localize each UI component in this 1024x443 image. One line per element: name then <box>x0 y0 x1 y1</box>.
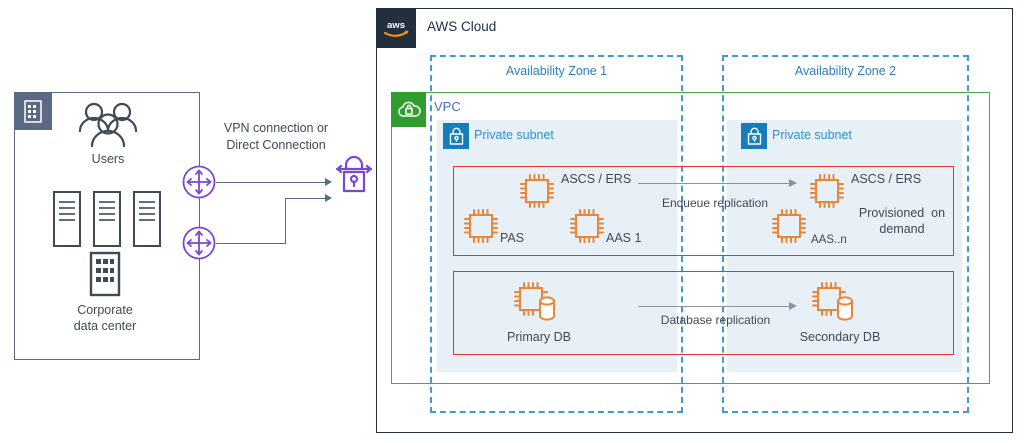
router-icon <box>182 226 216 265</box>
connector-line-router2-top <box>285 198 326 199</box>
private-subnet-lock-icon <box>741 123 767 149</box>
database-replication-arrow-head <box>789 302 797 310</box>
availability-zone-2-label: Availability Zone 2 <box>722 64 969 78</box>
router-icon <box>182 165 216 204</box>
availability-zone-1-label: Availability Zone 1 <box>430 64 683 78</box>
svg-text:aws: aws <box>387 20 405 31</box>
aws-logo-icon: aws <box>376 8 416 48</box>
ec2-database-icon <box>510 278 564 333</box>
ec2-instance-icon <box>516 170 558 217</box>
connector-line-router2-horizontal <box>216 243 286 244</box>
server-rack-icon <box>52 190 82 253</box>
connector-line-router2-vertical <box>285 198 286 244</box>
ascs-ers-az1-label: ASCS / ERS <box>561 172 651 188</box>
enqueue-replication-arrow-line <box>638 183 790 184</box>
vpn-gateway-padlock-icon <box>333 153 375 202</box>
server-rack-icon <box>92 190 122 253</box>
connector-arrow-router2 <box>325 194 332 202</box>
connector-line-router1 <box>216 182 326 183</box>
aws-cloud-label: AWS Cloud <box>427 19 496 34</box>
ec2-instance-icon <box>806 170 848 217</box>
ascs-ers-az2-label: ASCS / ERS <box>851 172 941 188</box>
vpc-label: VPC <box>434 99 461 114</box>
office-building-icon <box>14 92 52 130</box>
ec2-database-icon <box>808 278 862 333</box>
enqueue-replication-arrow-head <box>789 179 797 187</box>
vpn-connection-label: VPN connection or Direct Connection <box>206 120 346 154</box>
provisioned-on-demand-note: Provisioned on demand <box>852 206 952 237</box>
vpc-cloud-lock-icon <box>391 92 426 127</box>
secondary-db-label: Secondary DB <box>785 330 895 346</box>
building-icon <box>88 250 122 303</box>
ec2-instance-icon <box>566 205 608 252</box>
private-subnet-lock-icon <box>443 123 469 149</box>
users-icon <box>70 100 146 157</box>
connector-arrow-router1 <box>325 178 332 186</box>
users-label: Users <box>58 152 158 168</box>
ec2-instance-icon <box>460 205 502 252</box>
database-replication-label: Database replication <box>638 313 793 327</box>
aas-1-label: AAS 1 <box>606 231 666 247</box>
corporate-data-center-label: Corporate data center <box>45 303 165 334</box>
ec2-instance-icon <box>768 205 810 252</box>
server-rack-icon <box>132 190 162 253</box>
private-subnet-2-label: Private subnet <box>772 128 852 142</box>
pas-label: PAS <box>500 231 560 247</box>
private-subnet-1-label: Private subnet <box>474 128 554 142</box>
primary-db-label: Primary DB <box>489 330 589 346</box>
database-replication-arrow-line <box>638 306 790 307</box>
